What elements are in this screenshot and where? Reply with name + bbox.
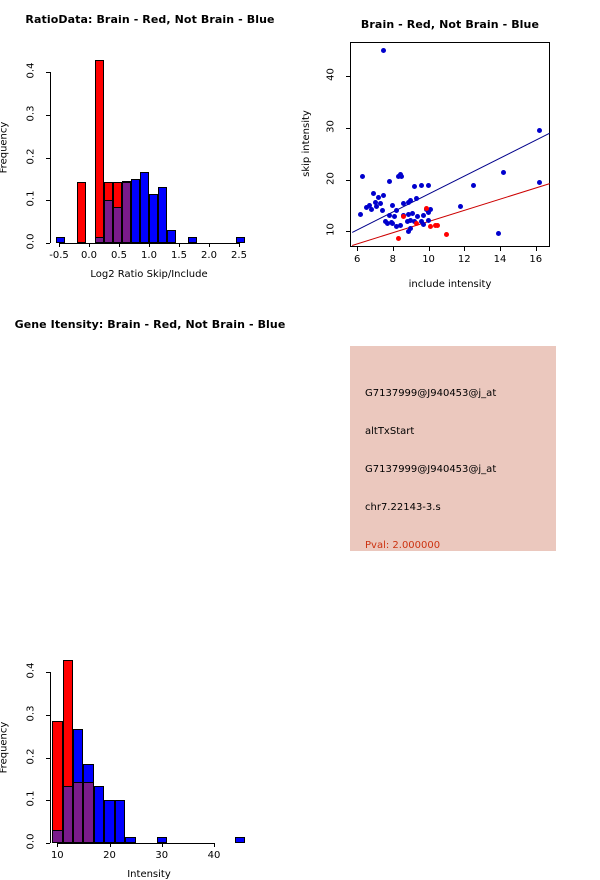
x-tick <box>57 843 58 847</box>
scatter-point <box>381 48 386 53</box>
info-line: chr7.22143-3.s <box>365 502 441 513</box>
x-tick <box>393 247 394 251</box>
scatter-point <box>394 208 399 213</box>
y-tick-label: 0.1 <box>26 186 37 212</box>
histogram-bar <box>115 800 125 843</box>
scatter-point <box>458 204 463 209</box>
histogram-bar <box>122 182 131 243</box>
scatter-point <box>435 223 440 228</box>
scatter-point <box>471 183 476 188</box>
x-tick <box>500 247 501 251</box>
scatter-point <box>421 213 426 218</box>
scatter-point <box>385 221 390 226</box>
scatter-point <box>398 172 403 177</box>
histogram-bar <box>140 172 149 243</box>
scatter-point <box>412 184 417 189</box>
histogram-bar <box>236 237 245 243</box>
x-tick-label: 20 <box>90 850 130 861</box>
x-tick-label: 40 <box>194 850 234 861</box>
y-axis-line <box>50 672 51 843</box>
x-axis-line <box>57 843 214 844</box>
y-tick-label: 0.1 <box>26 786 37 812</box>
x-tick <box>89 243 90 247</box>
x-tick-label: 12 <box>444 254 484 265</box>
y-tick-label: 40 <box>326 61 337 87</box>
info-line: G7137999@J940453@j_at <box>365 464 496 475</box>
y-tick-label: 10 <box>326 217 337 243</box>
y-tick-label: 0.4 <box>26 658 37 684</box>
scatter-point <box>387 179 392 184</box>
y-tick <box>46 72 50 73</box>
x-tick <box>464 247 465 251</box>
y-tick-label: 30 <box>326 113 337 139</box>
panel-info: G7137999@J940453@j_ataltTxStartG7137999@… <box>300 300 600 600</box>
x-tick <box>209 243 210 247</box>
histogram-bar <box>52 830 62 843</box>
scatter-point <box>381 193 386 198</box>
histogram-bar <box>83 782 93 843</box>
scatter-point <box>414 221 419 226</box>
scatter-point <box>419 183 424 188</box>
scatter-point <box>410 211 415 216</box>
x-tick <box>179 243 180 247</box>
scatter-point <box>414 196 419 201</box>
histogram-bar <box>104 800 114 843</box>
ratio-histogram-ylabel: Frequency <box>0 54 10 242</box>
figure-canvas: RatioData: Brain - Red, Not Brain - Blue… <box>0 0 600 600</box>
scatter-ylabel: skip intensity <box>301 41 312 246</box>
histogram-bar <box>235 837 245 843</box>
histogram-bar <box>95 237 104 243</box>
y-tick-label: 0.2 <box>26 143 37 169</box>
info-line: G7137999@J940453@j_at <box>365 388 496 399</box>
regression-line <box>352 133 550 233</box>
y-tick-label: 0.2 <box>26 743 37 769</box>
histogram-bar <box>56 237 65 243</box>
scatter-point <box>371 191 376 196</box>
y-tick-label: 20 <box>326 165 337 191</box>
x-tick <box>110 843 111 847</box>
info-line: altTxStart <box>365 426 414 437</box>
histogram-bar <box>113 207 122 243</box>
x-tick-label: 8 <box>373 254 413 265</box>
y-tick <box>46 115 50 116</box>
histogram-bar <box>157 837 167 843</box>
x-tick <box>162 843 163 847</box>
histogram-bar <box>73 782 83 843</box>
scatter-point <box>496 231 501 236</box>
x-tick-label: 16 <box>516 254 556 265</box>
gene-histogram-xlabel: Intensity <box>50 869 248 880</box>
y-tick <box>46 672 50 673</box>
scatter-point <box>537 180 542 185</box>
histogram-bar <box>77 182 86 243</box>
x-tick <box>119 243 120 247</box>
scatter-point <box>369 207 374 212</box>
x-tick-label: 10 <box>409 254 449 265</box>
scatter-point <box>406 200 411 205</box>
y-tick <box>46 158 50 159</box>
scatter-xlabel: include intensity <box>350 279 550 290</box>
y-tick-label: 0.4 <box>26 58 37 84</box>
y-tick <box>46 200 50 201</box>
x-tick-label: 10 <box>37 850 77 861</box>
scatter-point <box>426 218 431 223</box>
y-tick <box>46 715 50 716</box>
histogram-bar <box>131 179 140 243</box>
x-tick <box>357 247 358 251</box>
y-tick <box>46 758 50 759</box>
gene-histogram-ylabel: Frequency <box>0 654 10 842</box>
histogram-bar <box>52 721 62 843</box>
x-tick-label: 30 <box>142 850 182 861</box>
x-tick <box>536 247 537 251</box>
histogram-bar <box>167 230 176 243</box>
panel-gene-histogram: Gene Itensity: Brain - Red, Not Brain - … <box>0 300 300 600</box>
scatter-point <box>358 212 363 217</box>
histogram-bar <box>158 187 167 243</box>
y-tick <box>46 800 50 801</box>
gene-histogram-plot-area: 102030400.00.10.20.30.4 <box>0 300 300 600</box>
scatter-point <box>444 232 449 237</box>
scatter-point <box>374 204 379 209</box>
scatter-point <box>426 183 431 188</box>
y-tick-label: 0.0 <box>26 229 37 255</box>
histogram-bar <box>94 786 104 843</box>
x-tick <box>214 843 215 847</box>
x-tick <box>149 243 150 247</box>
scatter-point <box>392 214 397 219</box>
x-tick-label: 14 <box>480 254 520 265</box>
scatter-point <box>501 170 506 175</box>
y-tick <box>46 843 50 844</box>
scatter-point <box>428 224 433 229</box>
ratio-histogram-plot-area: -0.50.00.51.01.52.02.50.00.10.20.30.4 <box>0 0 300 300</box>
histogram-bar <box>95 60 104 243</box>
panel-scatter: Brain - Red, Not Brain - Blue 6810121416… <box>300 0 600 300</box>
scatter-point <box>421 222 426 227</box>
x-tick <box>239 243 240 247</box>
scatter-clip <box>350 42 550 247</box>
ratio-histogram-xlabel: Log2 Ratio Skip/Include <box>50 269 248 280</box>
scatter-point <box>394 224 399 229</box>
scatter-point <box>396 236 401 241</box>
x-tick-label: 6 <box>337 254 377 265</box>
scatter-point <box>380 208 385 213</box>
scatter-plot-area: 681012141610203040 <box>300 0 600 300</box>
x-tick <box>59 243 60 247</box>
y-tick-label: 0.3 <box>26 700 37 726</box>
scatter-point <box>415 214 420 219</box>
scatter-point <box>364 205 369 210</box>
histogram-bar <box>149 194 158 243</box>
y-tick-label: 0.0 <box>26 829 37 855</box>
scatter-point <box>387 213 392 218</box>
scatter-point <box>406 229 411 234</box>
y-axis-line <box>50 72 51 243</box>
y-tick <box>46 243 50 244</box>
histogram-bar <box>63 786 73 843</box>
y-tick-label: 0.3 <box>26 100 37 126</box>
x-tick <box>429 247 430 251</box>
info-panel-background <box>350 346 556 551</box>
panel-ratio-histogram: RatioData: Brain - Red, Not Brain - Blue… <box>0 0 300 300</box>
x-tick-label: 2.5 <box>219 250 259 261</box>
info-line: Pval: 2.000000 <box>365 540 440 551</box>
histogram-bar <box>188 237 197 243</box>
scatter-point <box>537 128 542 133</box>
scatter-point <box>360 174 365 179</box>
histogram-bar <box>125 837 135 843</box>
histogram-bar <box>104 200 113 243</box>
